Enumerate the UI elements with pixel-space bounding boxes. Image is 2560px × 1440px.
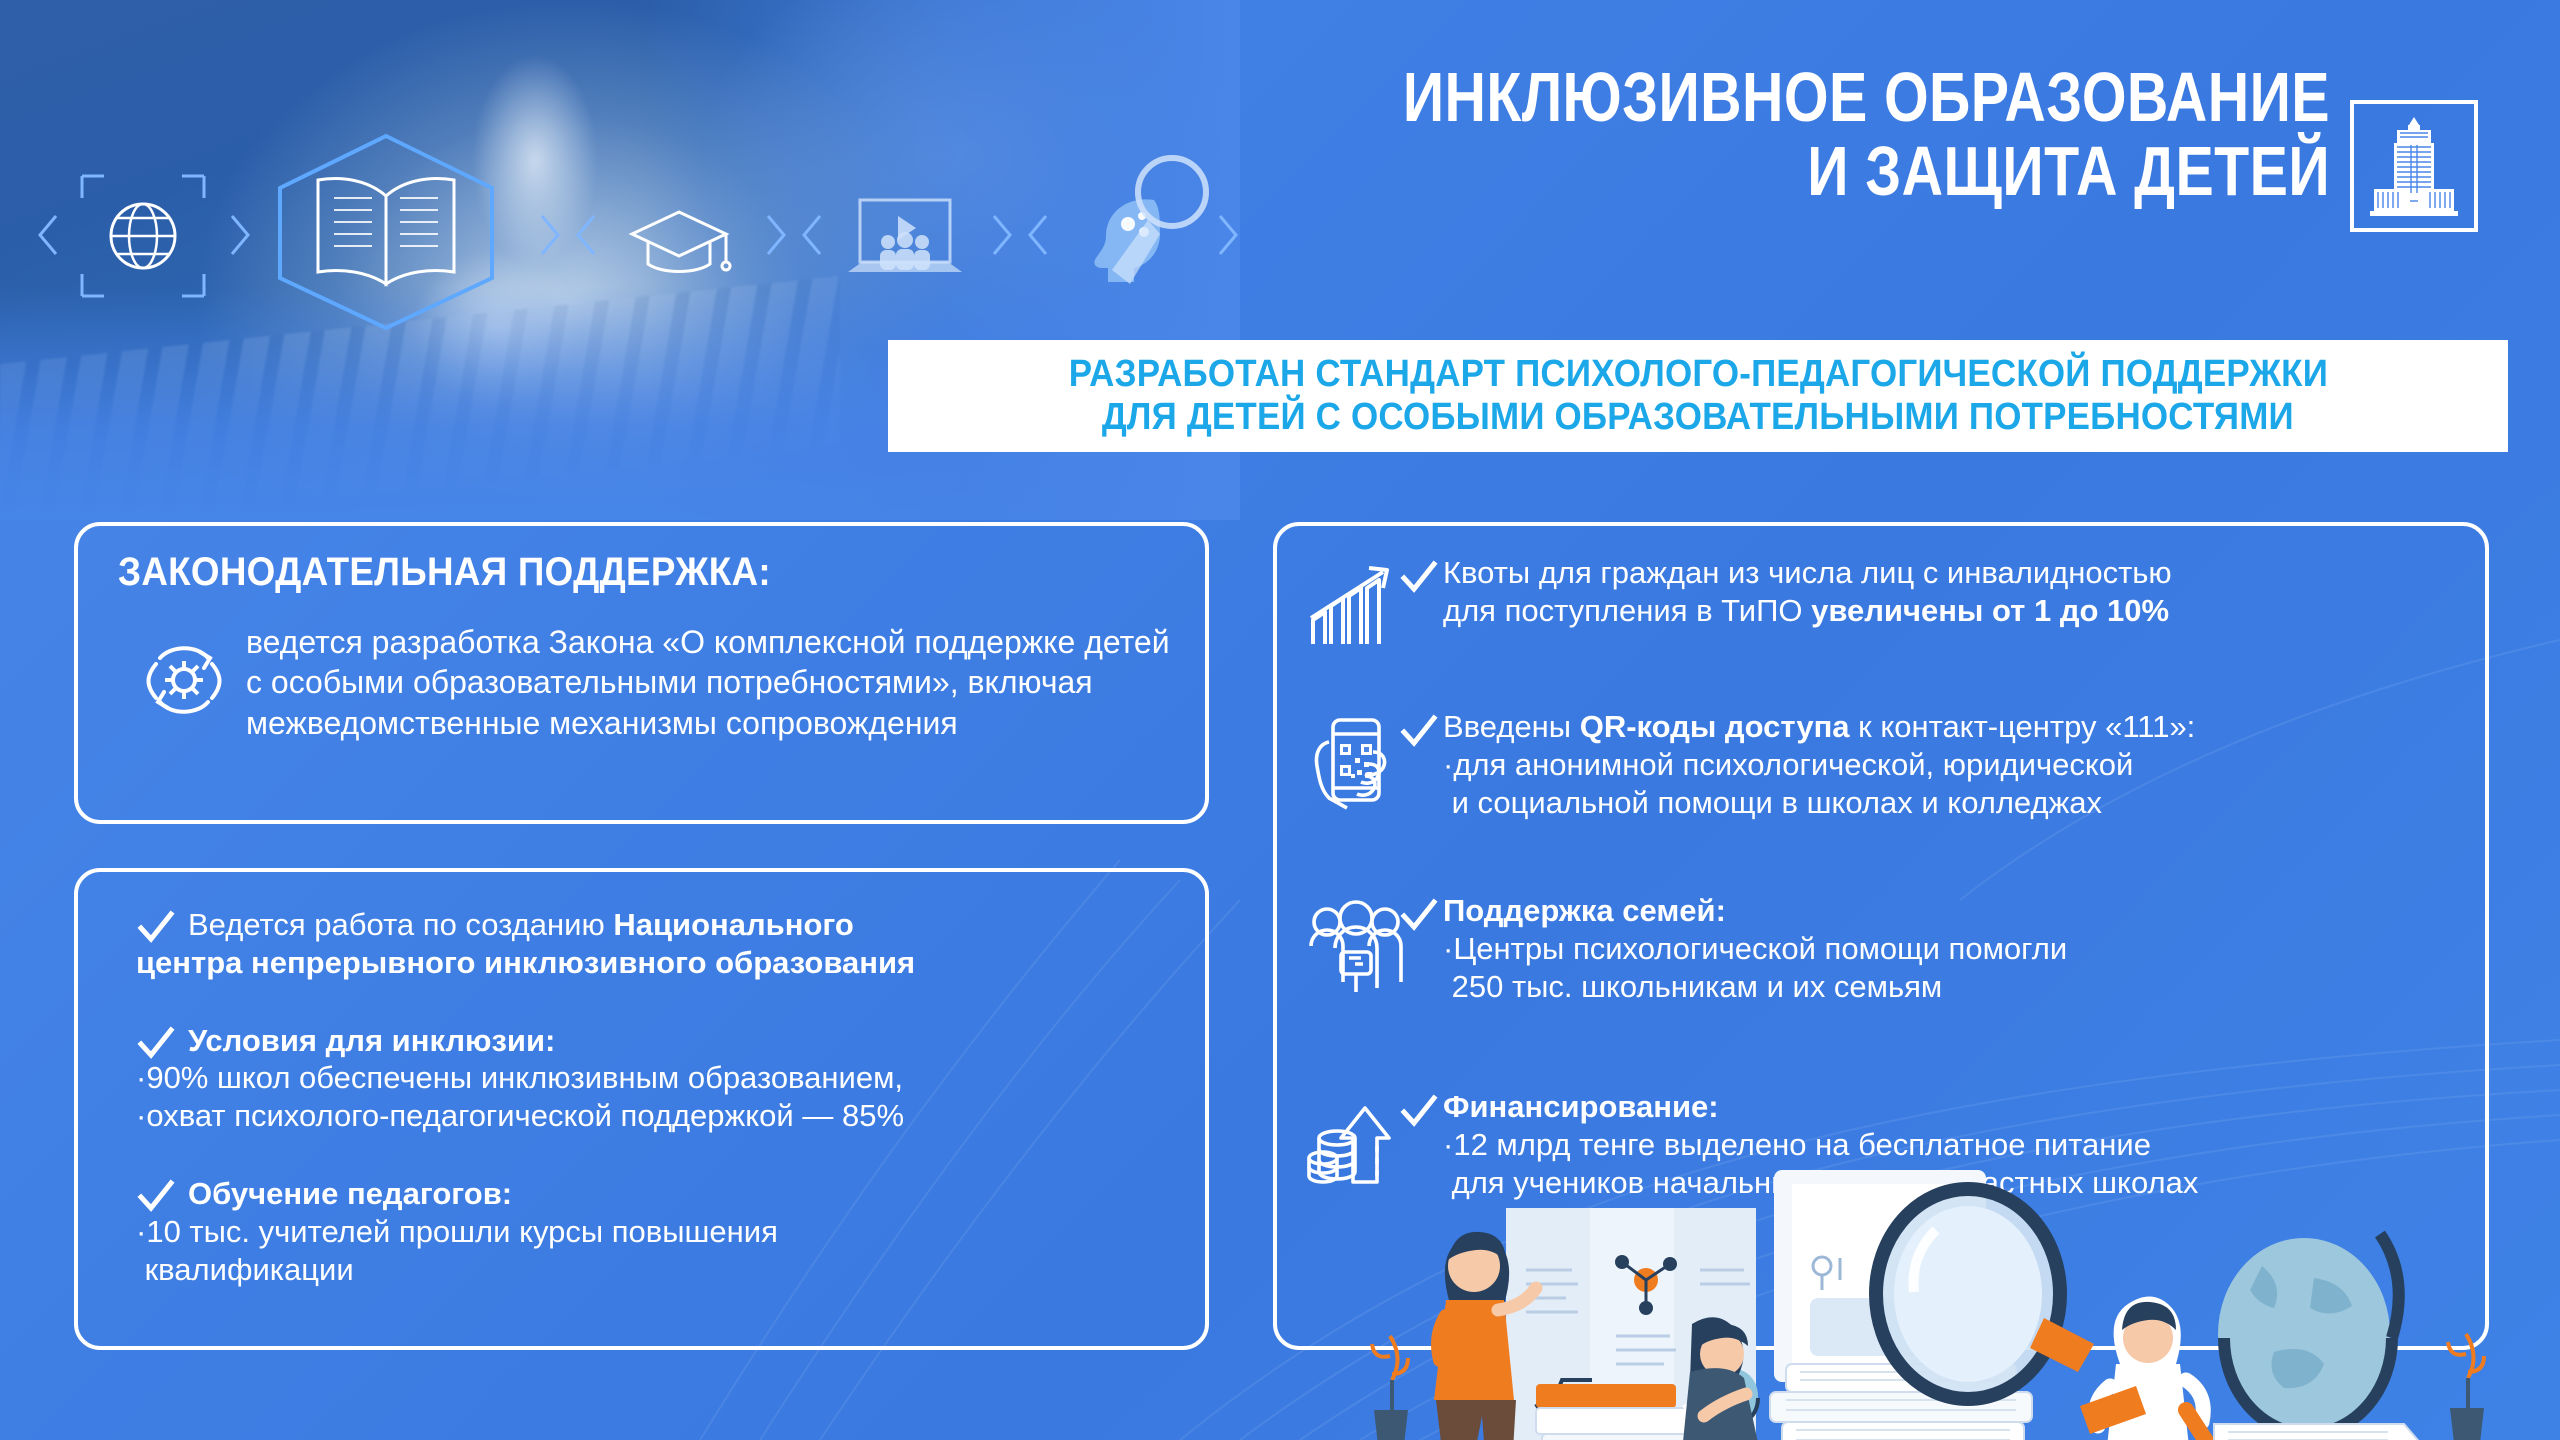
open-book-icon (256, 132, 516, 332)
list-item: Условия для инклюзии: ·90% школ обеспече… (126, 1022, 1181, 1135)
list-item-text-plain: Ведется работа по созданию (188, 907, 613, 942)
item-line-1-plain-a: Введены (1443, 709, 1580, 744)
left-bullets-card: Ведется работа по созданию Национального… (74, 868, 1209, 1350)
item-line-1-plain-b: к контакт-центру «111»: (1850, 709, 2196, 744)
title-line-2: И ЗАЩИТА ДЕТЕЙ (1305, 134, 2330, 208)
legislative-support-card: ЗАКОНОДАТЕЛЬНАЯ ПОДДЕРЖКА: ведется разра… (74, 522, 1209, 824)
check-icon (1399, 1092, 1439, 1132)
list-item-text-bold: Национального (613, 907, 854, 942)
item-line-1: Квоты для граждан из числа лиц с инвалид… (1443, 554, 2172, 592)
globe (2218, 1234, 2399, 1440)
title-line-1: ИНКЛЮЗИВНОЕ ОБРАЗОВАНИЕ (1305, 60, 2330, 134)
item-line-1-bold: QR-коды доступа (1580, 709, 1850, 744)
potted-plant-right (2448, 1334, 2484, 1440)
infographic-root: ИНКЛЮЗИВНОЕ ОБРАЗОВАНИЕ И ЗАЩИТА ДЕТЕЙ (0, 0, 2560, 1440)
standard-banner: РАЗРАБОТАН СТАНДАРТ ПСИХОЛОГО-ПЕДАГОГИЧЕ… (888, 340, 2508, 452)
potted-plant-left (1372, 1336, 1408, 1440)
item-sub-2: и социальной помощи в школах и колледжах (1443, 784, 2195, 822)
growth-chart-icon (1307, 558, 1407, 658)
item-sub-2: 250 тыс. школьникам и их семьям (1443, 968, 2067, 1006)
list-item: Введены QR-коды доступа к контакт-центру… (1307, 708, 2447, 858)
family-group-icon (1307, 896, 1407, 996)
presentation-screen-icon (830, 150, 980, 320)
banner-line-1: РАЗРАБОТАН СТАНДАРТ ПСИХОЛОГО-ПЕДАГОГИЧЕ… (1068, 353, 2327, 396)
item-heading: Финансирование: (1443, 1088, 2198, 1126)
item-sub-1: ·для анонимной психологической, юридичес… (1443, 746, 2195, 784)
government-building-logo (2350, 100, 2478, 232)
header-icon-row (20, 150, 1220, 330)
check-icon (136, 1177, 176, 1217)
check-icon (136, 908, 176, 948)
item-line-2-plain: для поступления в ТиПО (1443, 593, 1811, 628)
list-item-line-1: Ведется работа по созданию Национального (188, 906, 1181, 944)
list-item-sub-1: ·10 тыс. учителей прошли курсы повышения (136, 1213, 1181, 1251)
chevron-left-icon (30, 212, 70, 258)
gear-cycle-icon (134, 630, 234, 730)
list-item-sub-2: квалификации (136, 1251, 1181, 1289)
legislative-card-title: ЗАКОНОДАТЕЛЬНАЯ ПОДДЕРЖКА: (118, 550, 771, 595)
item-text: Поддержка семей: ·Центры психологической… (1443, 892, 2067, 1006)
check-icon (1399, 712, 1439, 752)
chevron-right-icon (218, 212, 258, 258)
list-item: Поддержка семей: ·Центры психологической… (1307, 892, 2447, 1042)
legislative-card-body: ведется разработка Закона «О комплексной… (246, 622, 1171, 743)
banner-line-2: ДЛЯ ДЕТЕЙ С ОСОБЫМИ ОБРАЗОВАТЕЛЬНЫМИ ПОТ… (1102, 396, 2294, 439)
item-line-1: Введены QR-коды доступа к контакт-центру… (1443, 708, 2195, 746)
chevron-right-icon (980, 212, 1020, 258)
phone-qr-icon (1307, 712, 1407, 812)
check-icon (136, 1024, 176, 1064)
item-line-2: для поступления в ТиПО увеличены от 1 до… (1443, 592, 2172, 630)
globe-icon (68, 150, 218, 320)
man-with-folder (2080, 1296, 2208, 1440)
list-item: Ведется работа по созданию Национального… (126, 906, 1181, 982)
chevron-left-icon (794, 212, 834, 258)
list-item-line-2: центра непрерывного инклюзивного образов… (136, 944, 1181, 982)
graduation-cap-icon (604, 150, 754, 320)
check-icon (1399, 558, 1439, 598)
education-research-illustration (1330, 1148, 2560, 1440)
chevron-right-icon (528, 212, 568, 258)
left-bullet-list: Ведется работа по созданию Национального… (126, 906, 1181, 1315)
item-heading: Поддержка семей: (1443, 892, 2067, 930)
item-text: Квоты для граждан из числа лиц с инвалид… (1443, 554, 2172, 630)
item-line-2-bold: увеличены от 1 до 10% (1811, 593, 2169, 628)
chevron-right-icon (754, 212, 794, 258)
list-item-heading: Обучение педагогов: (188, 1175, 1181, 1213)
item-text: Введены QR-коды доступа к контакт-центру… (1443, 708, 2195, 822)
page-title: ИНКЛЮЗИВНОЕ ОБРАЗОВАНИЕ И ЗАЩИТА ДЕТЕЙ (1080, 60, 2330, 208)
magnifier (1876, 1189, 2094, 1399)
check-icon (1399, 896, 1439, 936)
chevron-left-icon (568, 212, 608, 258)
list-item-heading: Условия для инклюзии: (188, 1022, 1181, 1060)
list-item: Квоты для граждан из числа лиц с инвалид… (1307, 554, 2447, 672)
item-sub-1: ·Центры психологической помощи помогли (1443, 930, 2067, 968)
list-item-sub-1: ·90% школ обеспечены инклюзивным образов… (136, 1059, 1181, 1097)
list-item: Обучение педагогов: ·10 тыс. учителей пр… (126, 1175, 1181, 1288)
list-item-sub-2: ·охват психолого-педагогической поддержк… (136, 1097, 1181, 1135)
chevron-left-icon (1020, 212, 1060, 258)
open-book-bottom (2214, 1424, 2428, 1440)
